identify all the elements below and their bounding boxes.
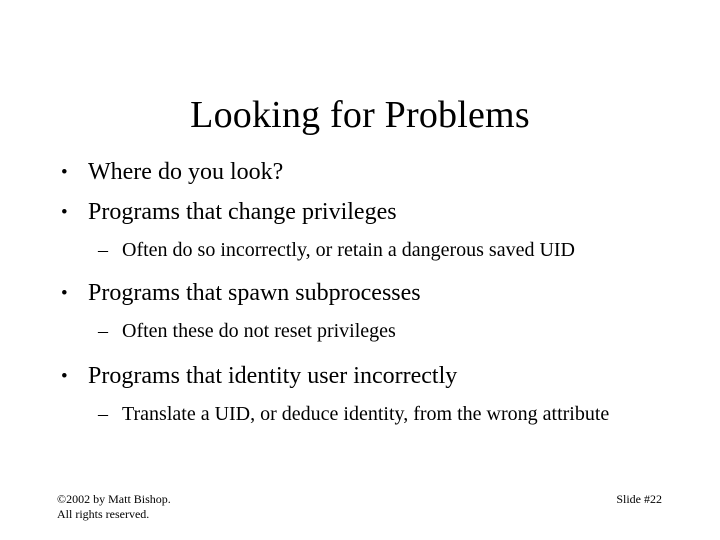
slide-body-content: • Where do you look? • Programs that cha… (56, 158, 666, 435)
bullet-marker-icon: • (56, 198, 88, 227)
dash-marker-icon: – (98, 402, 122, 426)
dash-marker-icon: – (98, 238, 122, 262)
list-item: • Where do you look? (56, 158, 666, 187)
page-title: Looking for Problems (0, 93, 720, 137)
copyright-notice: ©2002 by Matt Bishop. All rights reserve… (57, 492, 171, 522)
bullet-marker-icon: • (56, 158, 88, 187)
list-item: • Programs that change privileges (56, 198, 666, 227)
slide-canvas: Looking for Problems • Where do you look… (0, 0, 720, 540)
slide-footer: ©2002 by Matt Bishop. All rights reserve… (57, 492, 662, 522)
list-item-text: Programs that spawn subprocesses (88, 279, 666, 308)
list-item-text: Programs that identity user incorrectly (88, 362, 666, 391)
copyright-line-1: ©2002 by Matt Bishop. (57, 492, 171, 507)
slide-number: Slide #22 (616, 492, 662, 507)
dash-marker-icon: – (98, 319, 122, 343)
list-item-text: Programs that change privileges (88, 198, 666, 227)
sub-list-item: – Translate a UID, or deduce identity, f… (56, 402, 666, 426)
copyright-line-2: All rights reserved. (57, 507, 171, 522)
sub-list-item: – Often do so incorrectly, or retain a d… (56, 238, 666, 262)
list-item: • Programs that spawn subprocesses (56, 279, 666, 308)
sub-list-item-text: Translate a UID, or deduce identity, fro… (122, 402, 624, 426)
list-item: • Programs that identity user incorrectl… (56, 362, 666, 391)
sub-list-item-text: Often do so incorrectly, or retain a dan… (122, 238, 624, 262)
sub-list-item-text: Often these do not reset privileges (122, 319, 624, 343)
sub-list-item: – Often these do not reset privileges (56, 319, 666, 343)
bullet-marker-icon: • (56, 362, 88, 391)
bullet-marker-icon: • (56, 279, 88, 308)
list-item-text: Where do you look? (88, 158, 666, 187)
